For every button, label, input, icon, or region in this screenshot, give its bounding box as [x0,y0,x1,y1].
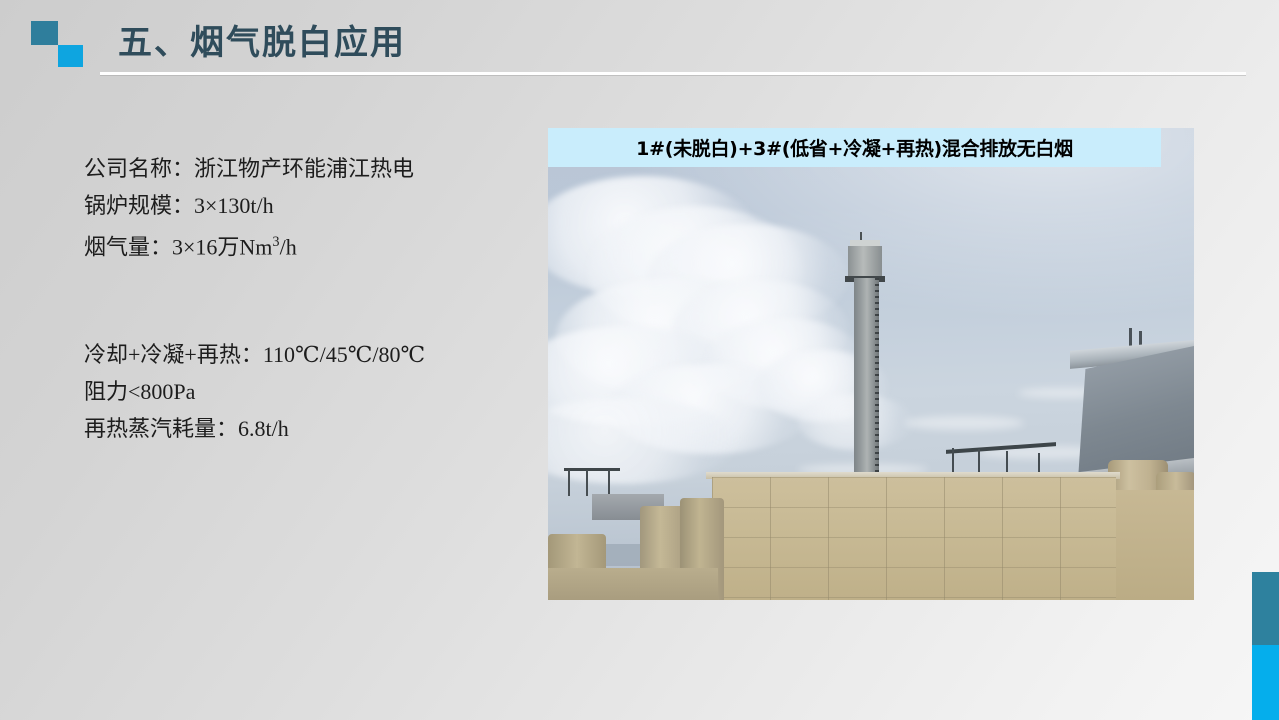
flue-gas-superscript: 3 [272,234,279,250]
slide-canvas: 五、烟气脱白应用 公司名称：浙江物产环能浦江热电 锅炉规模：3×130t/h 烟… [0,0,1279,720]
plant-annex [1108,490,1194,600]
cloud-streak [904,416,1024,430]
company-info-block: 公司名称：浙江物产环能浦江热电 锅炉规模：3×130t/h 烟气量：3×16万N… [84,150,414,265]
corner-accent-blue [1252,645,1279,720]
corner-accent-bar [1252,572,1279,720]
corner-accent-teal [1252,572,1279,645]
stack-head [848,246,882,280]
page-title: 五、烟气脱白应用 [118,21,406,65]
photo-sky [548,128,1194,600]
title-divider [100,72,1246,75]
plant-main-building [712,477,1116,600]
square-dark-icon [31,21,58,45]
resistance-line: 阻力<800Pa [84,373,425,410]
temperature-line: 冷却+冷凝+再热：110℃/45℃/80℃ [84,336,425,373]
photo-caption-banner: 1#(未脱白)+3#(低省+冷凝+再热)混合排放无白烟 [548,128,1161,167]
plant-photo: 1#(未脱白)+3#(低省+冷凝+再热)混合排放无白烟 [548,128,1194,600]
steam-consumption-line: 再热蒸汽耗量：6.8t/h [84,410,425,447]
flue-gas-volume-line: 烟气量：3×16万Nm3/h [84,224,414,265]
flue-gas-prefix: 烟气量：3×16万Nm [84,234,272,259]
small-gantry [564,468,620,496]
photo-caption-text: 1#(未脱白)+3#(低省+冷凝+再热)混合排放无白烟 [636,134,1073,161]
flue-gas-suffix: /h [280,234,297,259]
boiler-scale-line: 锅炉规模：3×130t/h [84,187,414,224]
company-name-line: 公司名称：浙江物产环能浦江热电 [84,150,414,187]
process-parameters-block: 冷却+冷凝+再热：110℃/45℃/80℃ 阻力<800Pa 再热蒸汽耗量：6.… [84,336,425,447]
square-bright-icon [58,45,83,67]
roof-mast [1129,328,1132,346]
title-decoration [31,21,85,67]
low-wall [548,568,718,600]
